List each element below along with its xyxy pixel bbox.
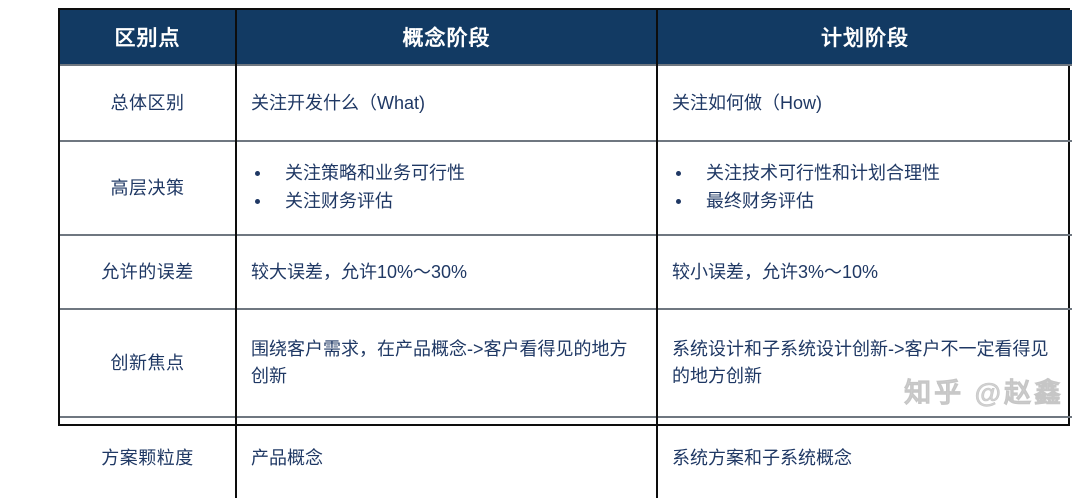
cell-high-level-decision-plan: 关注技术可行性和计划合理性 最终财务评估 xyxy=(657,141,1072,235)
page-root: 区别点 概念阶段 计划阶段 总体区别 关注开发什么（What) 关注如何做（Ho… xyxy=(0,0,1080,434)
cell-text: 系统设计和子系统设计创新->客户不一定看得见的地方创新 xyxy=(672,336,1060,390)
table-row: 总体区别 关注开发什么（What) 关注如何做（How) xyxy=(60,65,1072,141)
list-item-label: 关注策略和业务可行性 xyxy=(285,163,465,183)
list-item: 关注技术可行性和计划合理性 xyxy=(672,160,1060,188)
table-row: 允许的误差 较大误差，允许10%～30% 较小误差，允许3%～10% xyxy=(60,235,1072,309)
cell-high-level-decision-concept: 关注策略和业务可行性 关注财务评估 xyxy=(236,141,657,235)
cell-innovation-focus-plan: 系统设计和子系统设计创新->客户不一定看得见的地方创新 xyxy=(657,309,1072,417)
row-label-high-level-decision: 高层决策 xyxy=(60,141,236,235)
cell-allowed-error-concept: 较大误差，允许10%～30% xyxy=(236,235,657,309)
bullet-dot-icon xyxy=(255,171,260,176)
bullet-dot-icon xyxy=(676,171,681,176)
bullet-list-concept: 关注策略和业务可行性 关注财务评估 xyxy=(251,160,644,216)
list-item-label: 关注财务评估 xyxy=(285,191,393,211)
table-header: 区别点 概念阶段 计划阶段 xyxy=(60,10,1072,65)
bullet-dot-icon xyxy=(676,199,681,204)
cell-overall-difference-plan: 关注如何做（How) xyxy=(657,65,1072,141)
comparison-table: 区别点 概念阶段 计划阶段 总体区别 关注开发什么（What) 关注如何做（Ho… xyxy=(60,10,1072,498)
row-label-solution-granularity: 方案颗粒度 xyxy=(60,417,236,498)
row-label-overall-difference: 总体区别 xyxy=(60,65,236,141)
column-header-plan-phase: 计划阶段 xyxy=(657,10,1072,65)
table-row: 创新焦点 围绕客户需求，在产品概念->客户看得见的地方创新 系统设计和子系统设计… xyxy=(60,309,1072,417)
table-header-row: 区别点 概念阶段 计划阶段 xyxy=(60,10,1072,65)
comparison-table-container: 区别点 概念阶段 计划阶段 总体区别 关注开发什么（What) 关注如何做（Ho… xyxy=(58,8,1070,426)
cell-text: 围绕客户需求，在产品概念->客户看得见的地方创新 xyxy=(251,336,644,390)
row-label-innovation-focus: 创新焦点 xyxy=(60,309,236,417)
bullet-dot-icon xyxy=(255,199,260,204)
cell-overall-difference-concept: 关注开发什么（What) xyxy=(236,65,657,141)
cell-solution-granularity-plan: 系统方案和子系统概念 xyxy=(657,417,1072,498)
list-item: 关注财务评估 xyxy=(251,188,644,216)
cell-solution-granularity-concept: 产品概念 xyxy=(236,417,657,498)
table-row: 高层决策 关注策略和业务可行性 关注财务评估 关注技术可行性和计划合理性 最终财… xyxy=(60,141,1072,235)
table-row: 方案颗粒度 产品概念 系统方案和子系统概念 xyxy=(60,417,1072,498)
list-item: 最终财务评估 xyxy=(672,188,1060,216)
column-header-concept-phase: 概念阶段 xyxy=(236,10,657,65)
row-label-allowed-error: 允许的误差 xyxy=(60,235,236,309)
table-body: 总体区别 关注开发什么（What) 关注如何做（How) 高层决策 关注策略和业… xyxy=(60,65,1072,498)
cell-innovation-focus-concept: 围绕客户需求，在产品概念->客户看得见的地方创新 xyxy=(236,309,657,417)
list-item-label: 关注技术可行性和计划合理性 xyxy=(706,163,940,183)
list-item: 关注策略和业务可行性 xyxy=(251,160,644,188)
cell-allowed-error-plan: 较小误差，允许3%～10% xyxy=(657,235,1072,309)
list-item-label: 最终财务评估 xyxy=(706,191,814,211)
bullet-list-plan: 关注技术可行性和计划合理性 最终财务评估 xyxy=(672,160,1060,216)
column-header-criteria: 区别点 xyxy=(60,10,236,65)
